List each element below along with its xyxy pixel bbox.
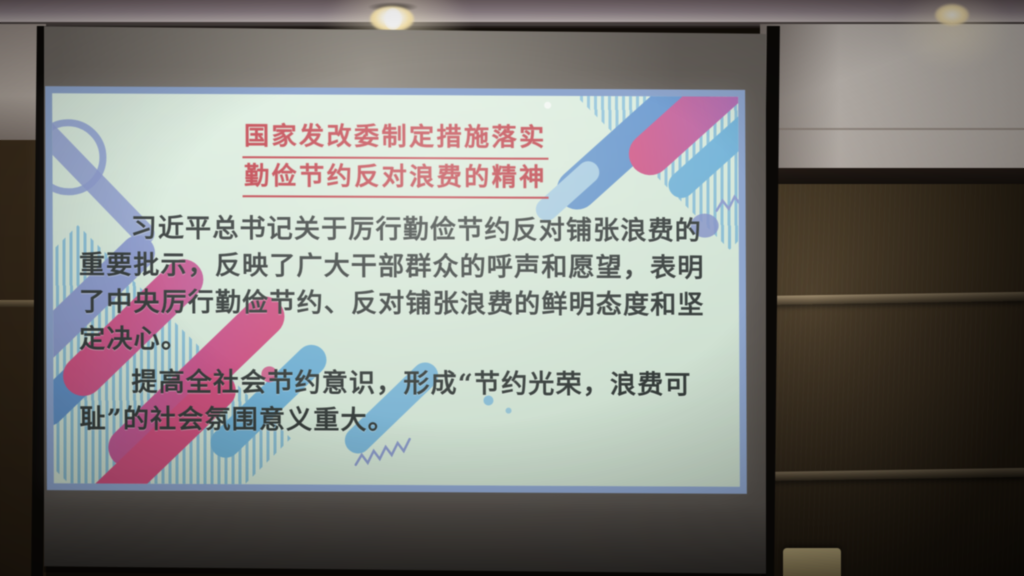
light-fixture-housing	[368, 2, 418, 12]
projection-screen-shadow	[44, 496, 766, 576]
wood-wall-vignette	[760, 184, 1024, 576]
upper-wall-shading	[760, 24, 1024, 174]
slide-text-block: 国家发改委制定措施落实 勤俭节约反对浪费的精神 习近平总书记关于厉行勤俭节约反对…	[52, 93, 740, 487]
slide-title: 国家发改委制定措施落实 勤俭节约反对浪费的精神	[78, 117, 712, 199]
slide-title-line2: 勤俭节约反对浪费的精神	[242, 158, 549, 199]
projected-slide: 国家发改委制定措施落实 勤俭节约反对浪费的精神 习近平总书记关于厉行勤俭节约反对…	[52, 93, 740, 487]
projected-slide-border: 国家发改委制定措施落实 勤俭节约反对浪费的精神 习近平总书记关于厉行勤俭节约反对…	[45, 86, 747, 494]
chair-back	[783, 548, 841, 576]
slide-paragraph-2: 提高全社会节约意识，形成“节约光荣，浪费可耻”的社会氛围意义重大。	[79, 364, 713, 441]
slide-paragraph-1: 习近平总书记关于厉行勤俭节约反对铺张浪费的重要批示，反映了广大干部群众的呼声和愿…	[79, 210, 714, 361]
wall-seam-line	[770, 128, 1024, 130]
slide-title-line1: 国家发改委制定措施落实	[242, 118, 549, 159]
conference-room-scene: 国家发改委制定措施落实 勤俭节约反对浪费的精神 习近平总书记关于厉行勤俭节约反对…	[0, 0, 1024, 576]
